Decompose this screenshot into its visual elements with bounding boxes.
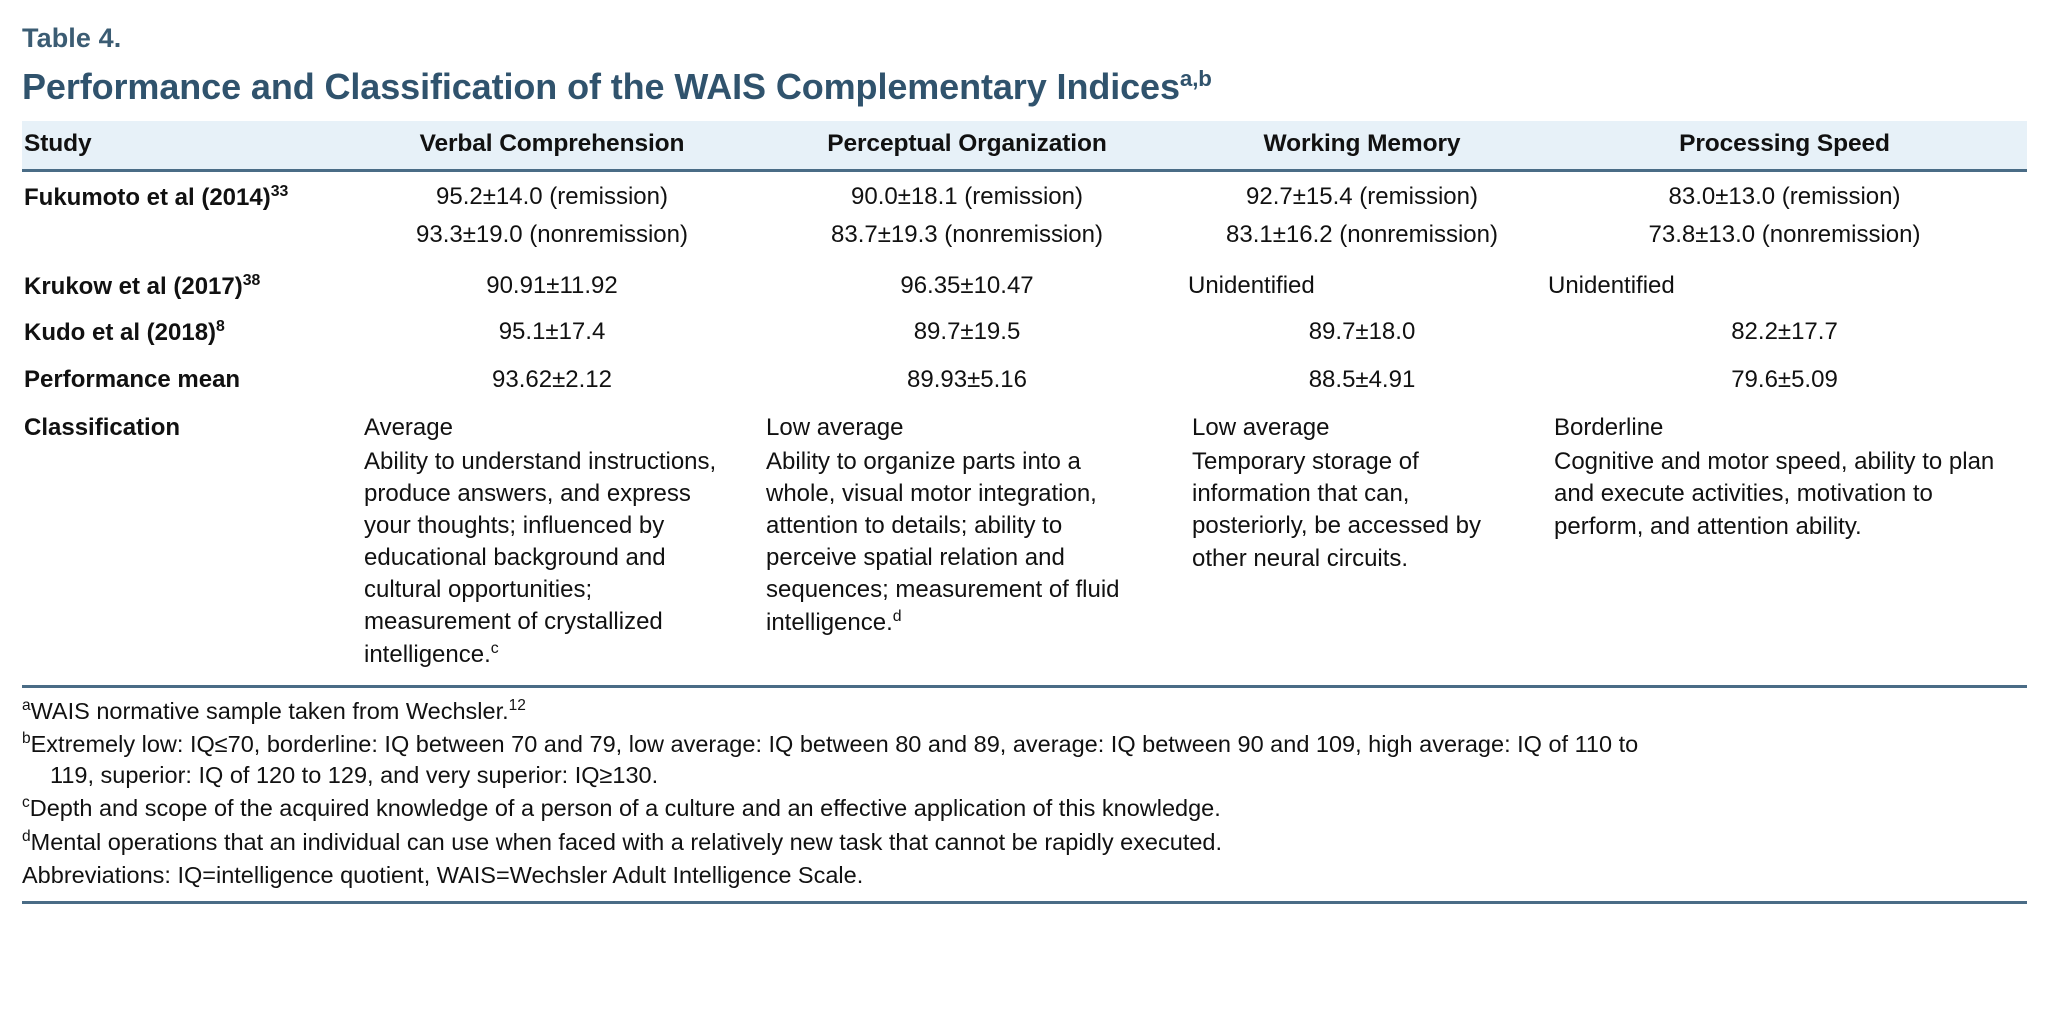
footnote-abbreviations: Abbreviations: IQ=intelligence quotient,…: [22, 859, 2027, 892]
value-remission: 90.0±18.1 (remission): [758, 182, 1176, 213]
table-body: Fukumoto et al (2014)33 95.2±14.0 (remis…: [22, 171, 2027, 677]
table-page: Table 4. Performance and Classification …: [0, 0, 2049, 1020]
table-row: Fukumoto et al (2014)33 95.2±14.0 (remis…: [22, 171, 2027, 261]
row-label-kudo: Kudo et al (2018)8: [22, 306, 352, 353]
table-number-label: Table 4.: [22, 0, 2027, 54]
footnote-d-text: Mental operations that an individual can…: [31, 829, 1222, 855]
table-header: Study Verbal Comprehension Perceptual Or…: [22, 121, 2027, 171]
cell-fukumoto-perceptual-organization: 90.0±18.1 (remission) 83.7±19.3 (nonremi…: [752, 171, 1182, 261]
study-reference: 8: [216, 318, 225, 335]
table-title-text: Performance and Classification of the WA…: [22, 66, 1180, 107]
row-label-performance-mean: Performance mean: [22, 353, 352, 400]
row-label-classification: Classification: [22, 400, 352, 677]
cell-krukow-verbal-comprehension: 90.91±11.92: [352, 261, 752, 307]
classification-name: Borderline: [1554, 413, 2023, 444]
cell-kudo-perceptual-organization: 89.7±19.5: [752, 306, 1182, 353]
classification-description-text: Temporary storage of information that ca…: [1192, 448, 1481, 572]
column-header-working-memory: Working Memory: [1182, 121, 1542, 171]
footnote-marker-a: a: [22, 697, 31, 714]
wais-indices-table: Study Verbal Comprehension Perceptual Or…: [22, 121, 2027, 677]
cell-fukumoto-verbal-comprehension: 95.2±14.0 (remission) 93.3±19.0 (nonremi…: [352, 171, 752, 261]
footnote-a: aWAIS normative sample taken from Wechsl…: [22, 695, 2027, 728]
footnote-c: cDepth and scope of the acquired knowled…: [22, 792, 2027, 825]
cell-classification-processing-speed: Borderline Cognitive and motor speed, ab…: [1542, 400, 2027, 677]
classification-description-text: Ability to understand instructions, prod…: [364, 448, 716, 667]
classification-description: Cognitive and motor speed, ability to pl…: [1554, 446, 2023, 543]
cell-mean-processing-speed: 79.6±5.09: [1542, 353, 2027, 400]
footnote-b-text-continued: 119, superior: IQ of 120 to 129, and ver…: [22, 760, 2027, 791]
footnote-a-reference: 12: [509, 697, 526, 714]
table-footnotes: aWAIS normative sample taken from Wechsl…: [22, 685, 2027, 893]
bottom-rule: [22, 901, 2027, 904]
footnote-b: bExtremely low: IQ≤70, borderline: IQ be…: [22, 728, 2027, 793]
classification-description: Temporary storage of information that ca…: [1192, 446, 1516, 575]
classification-description: Ability to understand instructions, prod…: [364, 446, 726, 670]
classification-name: Low average: [766, 413, 1156, 444]
column-header-processing-speed: Processing Speed: [1542, 121, 2027, 171]
cell-mean-working-memory: 88.5±4.91: [1182, 353, 1542, 400]
value-nonremission: 83.1±16.2 (nonremission): [1188, 220, 1536, 251]
classification-footnote-marker: d: [893, 608, 902, 625]
classification-description: Ability to organize parts into a whole, …: [766, 446, 1156, 638]
table-title: Performance and Classification of the WA…: [22, 54, 2027, 121]
table-row: Kudo et al (2018)8 95.1±17.4 89.7±19.5 8…: [22, 306, 2027, 353]
cell-classification-working-memory: Low average Temporary storage of informa…: [1182, 400, 1542, 677]
value-nonremission: 93.3±19.0 (nonremission): [358, 220, 746, 251]
row-label-krukow: Krukow et al (2017)38: [22, 261, 352, 307]
study-reference: 38: [243, 272, 261, 289]
classification-name: Average: [364, 413, 726, 444]
cell-classification-perceptual-organization: Low average Ability to organize parts in…: [752, 400, 1182, 677]
cell-mean-perceptual-organization: 89.93±5.16: [752, 353, 1182, 400]
classification-description-text: Ability to organize parts into a whole, …: [766, 448, 1120, 636]
footnote-marker-d: d: [22, 828, 31, 845]
column-header-study: Study: [22, 121, 352, 171]
cell-kudo-verbal-comprehension: 95.1±17.4: [352, 306, 752, 353]
cell-kudo-processing-speed: 82.2±17.7: [1542, 306, 2027, 353]
cell-fukumoto-working-memory: 92.7±15.4 (remission) 83.1±16.2 (nonremi…: [1182, 171, 1542, 261]
value-remission: 95.2±14.0 (remission): [358, 182, 746, 213]
value-remission: 83.0±13.0 (remission): [1548, 182, 2021, 213]
row-label-fukumoto: Fukumoto et al (2014)33: [22, 171, 352, 261]
table-row: Performance mean 93.62±2.12 89.93±5.16 8…: [22, 353, 2027, 400]
cell-krukow-working-memory: Unidentified: [1182, 261, 1542, 307]
table-row: Krukow et al (2017)38 90.91±11.92 96.35±…: [22, 261, 2027, 307]
footnote-marker-b: b: [22, 730, 31, 747]
column-header-verbal-comprehension: Verbal Comprehension: [352, 121, 752, 171]
value-remission: 92.7±15.4 (remission): [1188, 182, 1536, 213]
classification-footnote-marker: c: [491, 640, 499, 657]
study-name: Krukow et al (2017): [24, 273, 243, 300]
table-row: Classification Average Ability to unders…: [22, 400, 2027, 677]
cell-krukow-processing-speed: Unidentified: [1542, 261, 2027, 307]
study-name: Fukumoto et al (2014): [24, 184, 271, 211]
footnote-b-text: Extremely low: IQ≤70, borderline: IQ bet…: [31, 731, 1639, 757]
study-name: Kudo et al (2018): [24, 319, 216, 346]
value-nonremission: 83.7±19.3 (nonremission): [758, 220, 1176, 251]
classification-description-text: Cognitive and motor speed, ability to pl…: [1554, 448, 1994, 540]
cell-mean-verbal-comprehension: 93.62±2.12: [352, 353, 752, 400]
classification-name: Low average: [1192, 413, 1516, 444]
value-nonremission: 73.8±13.0 (nonremission): [1548, 220, 2021, 251]
cell-fukumoto-processing-speed: 83.0±13.0 (remission) 73.8±13.0 (nonremi…: [1542, 171, 2027, 261]
cell-kudo-working-memory: 89.7±18.0: [1182, 306, 1542, 353]
footnote-d: dMental operations that an individual ca…: [22, 826, 2027, 859]
table-title-footnote-markers: a,b: [1180, 66, 1212, 91]
footnote-marker-c: c: [22, 795, 30, 812]
study-reference: 33: [271, 183, 289, 200]
cell-classification-verbal-comprehension: Average Ability to understand instructio…: [352, 400, 752, 677]
column-header-perceptual-organization: Perceptual Organization: [752, 121, 1182, 171]
cell-krukow-perceptual-organization: 96.35±10.47: [752, 261, 1182, 307]
header-row: Study Verbal Comprehension Perceptual Or…: [22, 121, 2027, 171]
footnote-c-text: Depth and scope of the acquired knowledg…: [30, 795, 1221, 821]
footnote-a-text: WAIS normative sample taken from Wechsle…: [31, 698, 509, 724]
